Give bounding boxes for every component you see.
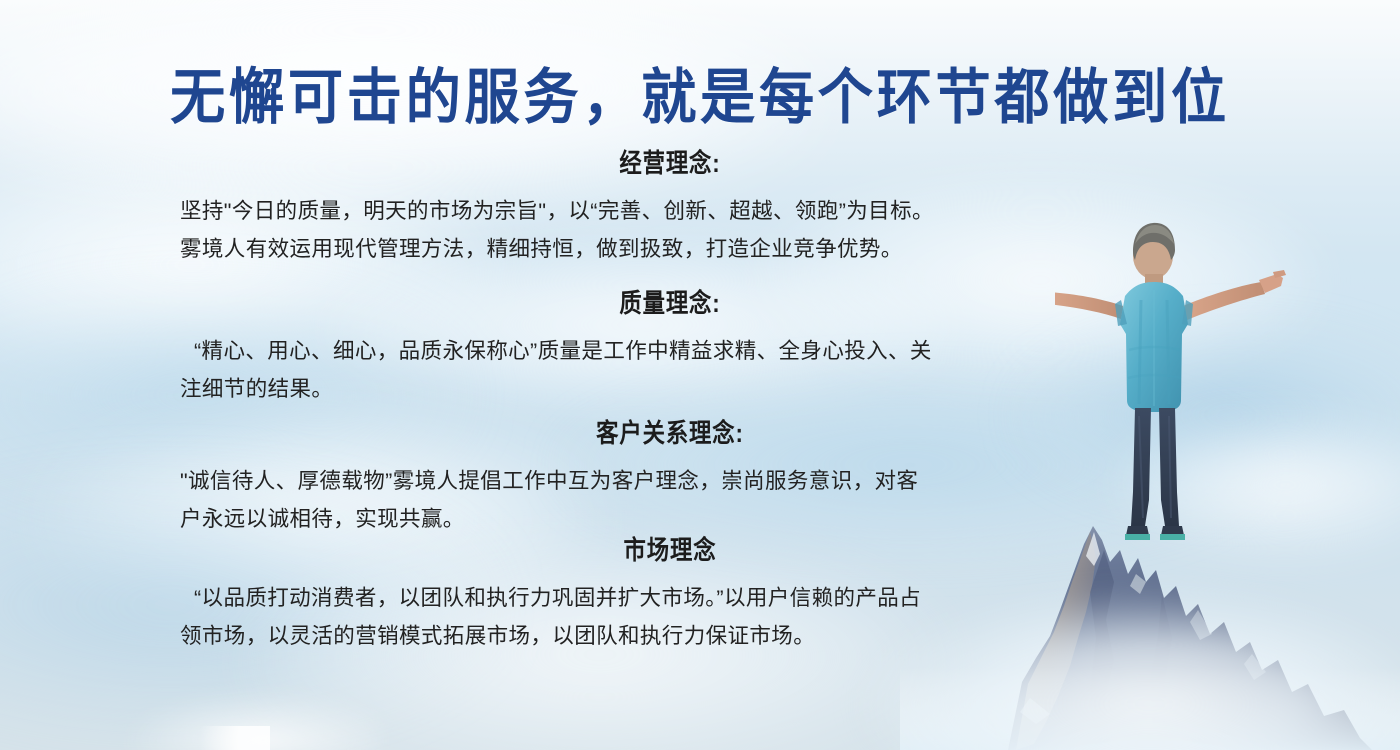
section-heading: 客户关系理念:	[249, 416, 1092, 450]
page-title: 无懈可击的服务，就是每个环节都做到位	[56, 60, 1344, 136]
section-body: “以品质打动消费者，以团队和执行力巩固并扩大市场。”以用户信赖的产品占 领市场，…	[180, 579, 1160, 655]
section-heading: 质量理念:	[249, 286, 1092, 320]
section-body-line: "诚信待人、厚德载物”雾境人提倡工作中互为客户理念，崇尚服务意识，对客	[180, 462, 1160, 500]
section-business-philosophy: 经营理念: 坚持"今日的质量，明天的市场为宗旨"，以“完善、创新、超越、领跑”为…	[180, 146, 1160, 268]
section-quality-philosophy: 质量理念: “精心、用心、细心，品质永保称心”质量是工作中精益求精、全身心投入、…	[180, 286, 1160, 408]
section-body-line: “以品质打动消费者，以团队和执行力巩固并扩大市场。”以用户信赖的产品占	[180, 579, 1160, 617]
section-body-line: 领市场，以灵活的营销模式拓展市场，以团队和执行力保证市场。	[180, 617, 1160, 655]
section-body-line: 注细节的结果。	[180, 370, 1160, 408]
section-body-line: “精心、用心、细心，品质永保称心”质量是工作中精益求精、全身心投入、关	[180, 332, 1160, 370]
section-heading: 市场理念	[249, 533, 1092, 567]
section-market-philosophy: 市场理念 “以品质打动消费者，以团队和执行力巩固并扩大市场。”以用户信赖的产品占…	[180, 533, 1160, 655]
bottom-white-marker	[200, 726, 270, 750]
section-customer-relations-philosophy: 客户关系理念: "诚信待人、厚德载物”雾境人提倡工作中互为客户理念，崇尚服务意识…	[180, 416, 1160, 538]
section-heading: 经营理念:	[249, 146, 1092, 180]
bottom-light-glow	[120, 690, 380, 750]
section-body-line: 雾境人有效运用现代管理方法，精细持恒，做到扱致，打造企业竞争优势。	[180, 230, 1160, 268]
company-philosophy-banner: 无懈可击的服务，就是每个环节都做到位 经营理念: 坚持"今日的质量，明天的市场为…	[0, 0, 1400, 750]
section-body: “精心、用心、细心，品质永保称心”质量是工作中精益求精、全身心投入、关 注细节的…	[180, 332, 1160, 408]
section-body: "诚信待人、厚德载物”雾境人提倡工作中互为客户理念，崇尚服务意识，对客 户永远以…	[180, 462, 1160, 538]
section-body: 坚持"今日的质量，明天的市场为宗旨"，以“完善、创新、超越、领跑”为目标。 雾境…	[180, 192, 1160, 268]
section-body-line: 坚持"今日的质量，明天的市场为宗旨"，以“完善、创新、超越、领跑”为目标。	[180, 192, 1160, 230]
